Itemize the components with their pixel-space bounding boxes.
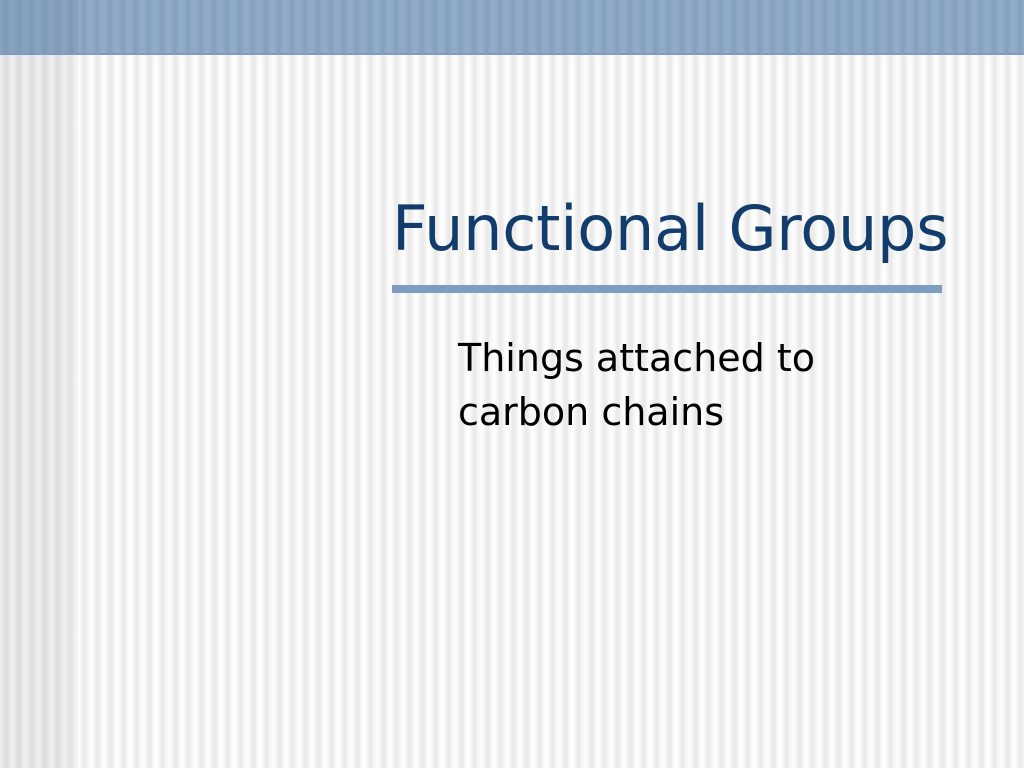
top-banner-left-shade [0,0,78,55]
page-title: Functional Groups [392,196,942,263]
title-divider-rule [392,285,942,293]
top-banner-bottom-edge [0,53,1024,55]
background-left-accent-band [0,0,78,768]
presentation-slide: Functional Groups Things attached to car… [0,0,1024,768]
subtitle-block: Things attached to carbon chains [458,332,928,440]
top-banner [0,0,1024,55]
title-block: Functional Groups [392,196,942,293]
slide-subtitle: Things attached to carbon chains [458,332,928,440]
